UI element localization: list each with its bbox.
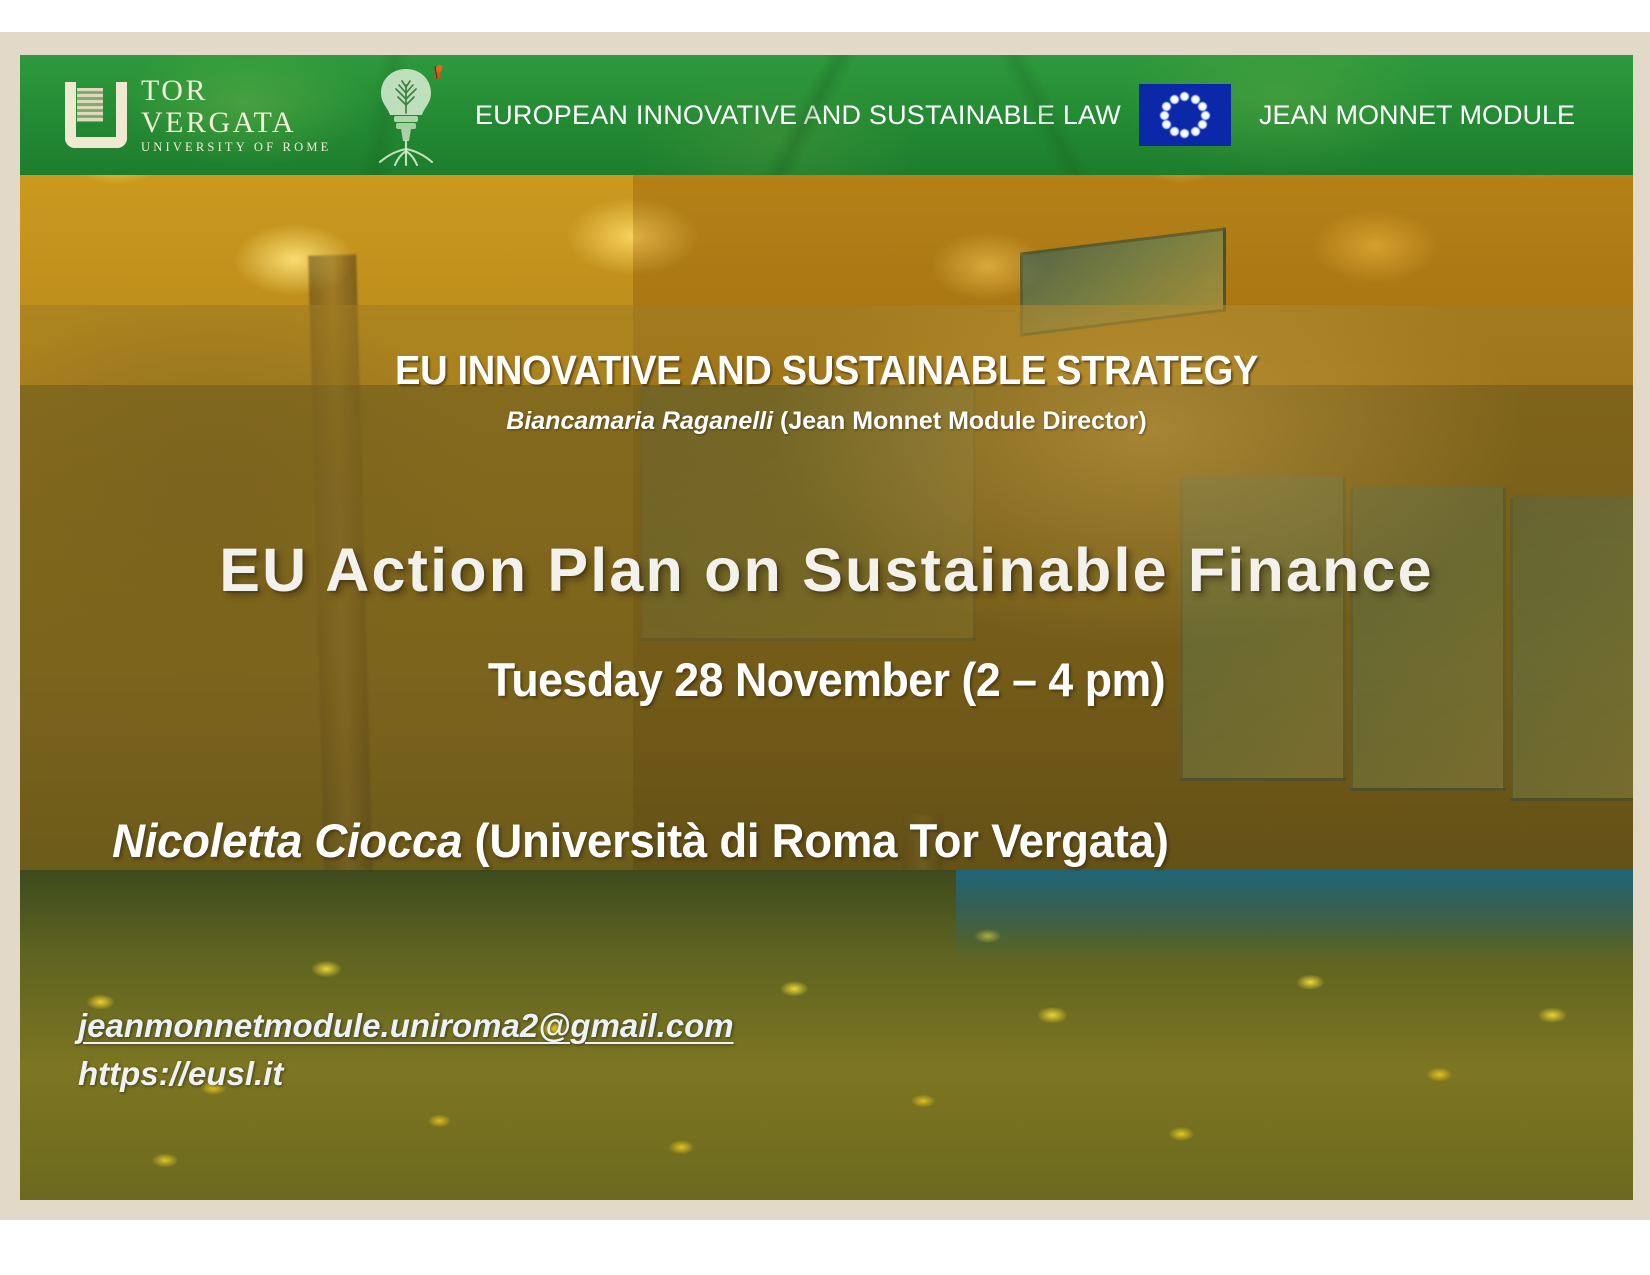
university-subtitle: UNIVERSITY OF ROME — [141, 141, 341, 154]
poster-slide: TOR VERGATA UNIVERSITY OF ROME — [20, 55, 1633, 1200]
programme-label: JEAN MONNET MODULE — [1259, 100, 1633, 131]
director-line: Biancamaria Raganelli (Jean Monnet Modul… — [20, 407, 1633, 436]
poster-root: TOR VERGATA UNIVERSITY OF ROME — [0, 0, 1650, 1275]
speaker-name: Nicoletta Ciocca — [112, 814, 462, 867]
tor-vergata-logo[interactable]: TOR VERGATA UNIVERSITY OF ROME — [65, 72, 341, 158]
date-time: Tuesday 28 November (2 – 4 pm) — [60, 652, 1592, 707]
butterfly-icon — [435, 65, 443, 80]
contact-email-link[interactable]: jeanmonnetmodule.uniroma2@gmail.com — [78, 1007, 734, 1045]
university-name: TOR VERGATA — [141, 75, 341, 138]
director-name: Biancamaria Raganelli — [506, 407, 773, 435]
contact-website-link[interactable]: https://eusl.it — [78, 1055, 283, 1093]
lightbulb-tree-icon[interactable] — [367, 61, 445, 169]
speaker-line: Nicoletta Ciocca (Università di Roma Tor… — [112, 813, 1541, 868]
glass-reflection — [956, 870, 1633, 960]
director-role: (Jean Monnet Module Director) — [773, 407, 1147, 435]
tor-vergata-wordmark: TOR VERGATA UNIVERSITY OF ROME — [141, 75, 341, 154]
header-band: TOR VERGATA UNIVERSITY OF ROME — [20, 55, 1633, 175]
module-title: EU INNOVATIVE AND SUSTAINABLE STRATEGY — [76, 347, 1576, 394]
lecture-title: EU Action Plan on Sustainable Finance — [20, 535, 1633, 605]
tor-vergata-mark-icon — [65, 82, 127, 148]
eu-flag-icon — [1139, 84, 1231, 146]
speaker-affiliation: (Università di Roma Tor Vergata) — [462, 814, 1169, 867]
project-title: EUROPEAN INNOVATIVE AND SUSTAINABLE LAW — [445, 100, 1121, 131]
